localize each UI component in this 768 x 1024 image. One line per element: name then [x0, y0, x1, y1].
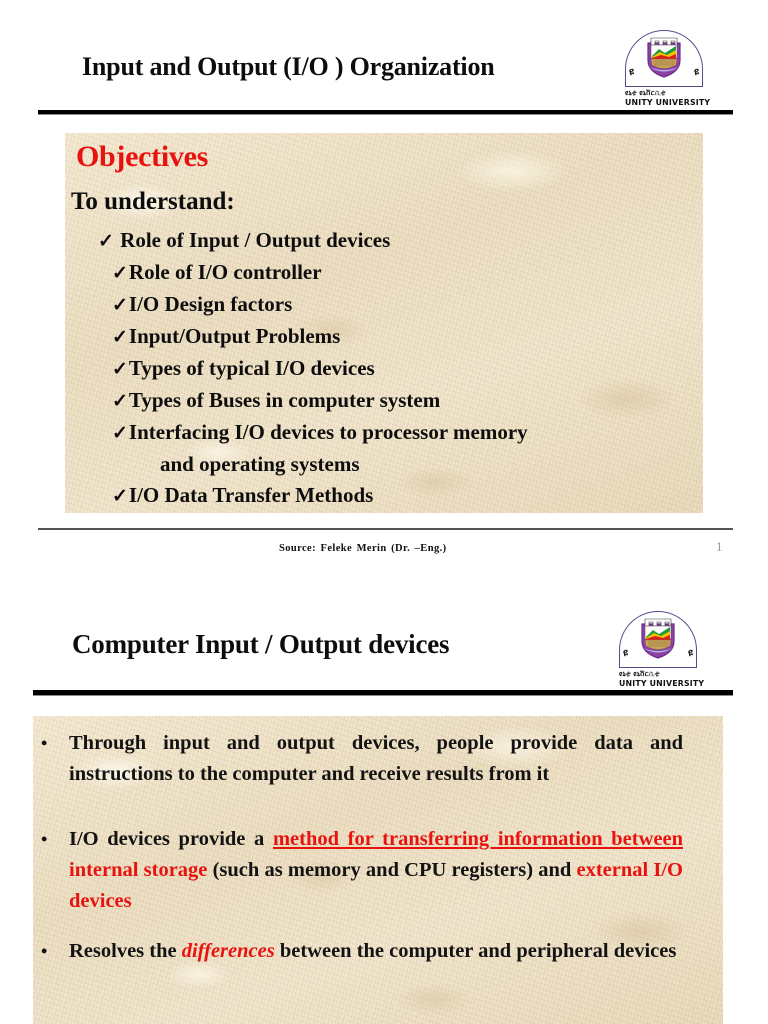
bullet-list: • Through input and output devices, peop… [33, 716, 723, 1024]
segment-plain: Resolves the [69, 940, 182, 962]
objectives-heading: Objectives [76, 140, 208, 174]
checkmark-icon: ✓ [112, 418, 128, 449]
segment-plain: (such as memory and CPU registers) and [207, 859, 576, 881]
list-item-label: I/O devices provide a method for transfe… [69, 824, 683, 917]
objectives-subheading: To understand: [71, 188, 235, 216]
list-item: ✓I/O Data Transfer Methods [112, 480, 702, 512]
list-item-label: Types of typical I/O devices [129, 356, 375, 380]
list-item-label: I/O Data Transfer Methods [129, 483, 373, 507]
bullet-marker-icon: • [41, 824, 47, 855]
checkmark-icon: ✓ [112, 226, 114, 257]
logo-glyph-left: ዩ [629, 67, 634, 78]
logo-glyph-right: ዩ [694, 67, 699, 78]
segment-emphasis: differences [182, 940, 275, 962]
segment-highlight: internal storage [69, 859, 207, 881]
segment-plain: between the computer and peripheral devi… [275, 940, 677, 962]
unity-university-logo: ዩ ዩ ዩኒቲ ዩኒቨርሲቲ UNITY UNIVERSITY [606, 610, 710, 694]
slide-1-title: Input and Output (I/O ) Organization [82, 52, 602, 82]
checkmark-icon: ✓ [112, 322, 128, 353]
content-panel: • Through input and output devices, peop… [33, 716, 723, 1024]
list-item: ✓Types of typical I/O devices [112, 353, 702, 385]
arch-baseline [619, 667, 697, 668]
logo-english-label: UNITY UNIVERSITY [625, 98, 710, 107]
logo-glyph-left: ዩ [623, 648, 628, 659]
list-item-label: Types of Buses in computer system [129, 388, 440, 412]
slide-1: Input and Output (I/O ) Organization ዩ [0, 0, 768, 590]
list-item-label: Through input and output devices, people… [69, 728, 683, 790]
bullet-marker-icon: • [41, 936, 47, 967]
source-credit: Source: Feleke Merin (Dr. –Eng.) [279, 543, 447, 554]
segment-plain: I/O devices provide a [69, 828, 273, 850]
list-item: ✓Input/Output Problems [112, 321, 702, 353]
unity-university-logo: ዩ ዩ ዩኒቲ ዩኒቨርሲቲ UNITY UNIVERSITY [612, 29, 716, 113]
checkmark-icon: ✓ [112, 386, 128, 417]
bullet-marker-icon: • [41, 728, 47, 759]
objectives-panel: Objectives To understand: ✓ Role of Inpu… [65, 133, 703, 513]
list-item: ✓Interfacing I/O devices to processor me… [112, 417, 702, 449]
list-item-label: Resolves the differences between the com… [69, 936, 683, 967]
slide-2-title: Computer Input / Output devices [72, 629, 592, 660]
segment-highlight-underline: method for transferring information betw… [273, 828, 683, 850]
list-item-label: Input/Output Problems [129, 324, 340, 348]
logo-amharic-label: ዩኒቲ ዩኒቨርሲቲ [619, 670, 660, 678]
logo-glyph-right: ዩ [688, 648, 693, 659]
list-item: • Through input and output devices, peop… [33, 728, 683, 790]
checkmark-icon: ✓ [112, 354, 128, 385]
list-item-label: Role of Input / Output devices [120, 228, 390, 252]
logo-amharic-label: ዩኒቲ ዩኒቨርሲቲ [625, 89, 666, 97]
slide-2: Computer Input / Output devices ዩ [0, 600, 768, 1024]
list-item: ✓Types of Buses in computer system [112, 385, 702, 417]
logo-arch-frame: ዩ ዩ [606, 610, 710, 670]
objectives-list: ✓ Role of Input / Output devices ✓Role o… [112, 225, 702, 512]
arch-baseline [625, 86, 703, 87]
list-item: • I/O devices provide a method for trans… [33, 824, 683, 917]
header-rule-shadow [38, 114, 733, 115]
logo-english-label: UNITY UNIVERSITY [619, 679, 704, 688]
logo-arch-frame: ዩ ዩ [612, 29, 716, 89]
handout-page: Input and Output (I/O ) Organization ዩ [0, 0, 768, 1024]
checkmark-icon: ✓ [112, 258, 128, 289]
list-item-label: I/O Design factors [129, 292, 292, 316]
list-item: ✓Role of I/O controller [112, 257, 702, 289]
list-item: ✓I/O Design factors [112, 289, 702, 321]
list-item-label: Interfacing I/O devices to processor mem… [129, 420, 528, 444]
list-item: ✓ Role of Input / Output devices [112, 225, 702, 257]
checkmark-icon: ✓ [112, 481, 128, 512]
header-rule-shadow [33, 695, 733, 696]
university-crest-icon [639, 617, 677, 659]
checkmark-icon: ✓ [112, 290, 128, 321]
university-crest-icon [645, 36, 683, 78]
list-item-label: Role of I/O controller [129, 260, 322, 284]
list-item: • Resolves the differences between the c… [33, 936, 683, 967]
footer-rule [38, 528, 733, 530]
list-item-continuation: and operating systems [112, 449, 702, 480]
page-number: 1 [716, 539, 723, 555]
